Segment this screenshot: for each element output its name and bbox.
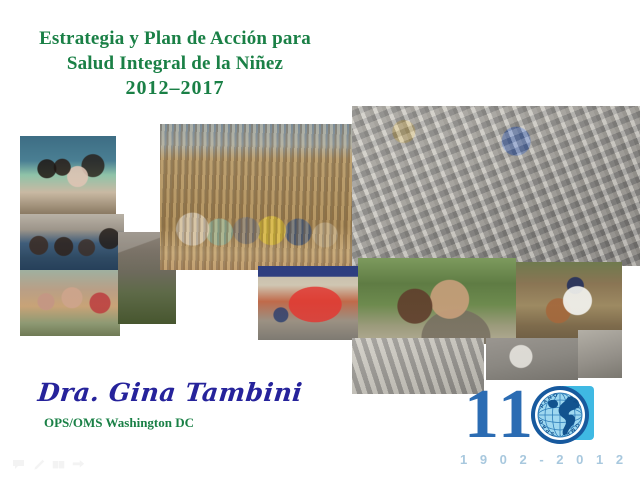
presenter-block: Dra. Gina Tambini OPS/OMS Washington DC	[38, 378, 302, 431]
photo-aerial-city-image	[352, 106, 640, 266]
photo-right-sliver-image	[578, 330, 622, 378]
photo-youth-group	[20, 214, 124, 270]
photo-youth-group-image	[20, 214, 124, 270]
photo-couple-image	[358, 258, 516, 344]
comment-icon	[12, 459, 25, 470]
photo-city-bus	[258, 266, 362, 340]
photo-aerial-city	[352, 106, 640, 266]
photo-right-sliver	[578, 330, 622, 378]
photo-children-bed-image	[20, 136, 116, 214]
title-line-1: Estrategia y Plan de Acción para	[0, 26, 350, 51]
paho-110-anniversary-logo: 1 1	[458, 382, 626, 474]
logo-digit-first: 1	[464, 380, 499, 450]
logo-mark: 1 1	[458, 382, 626, 450]
presentation-slide: Estrategia y Plan de Acción para Salud I…	[0, 0, 640, 480]
photo-street-scene-image	[486, 338, 578, 380]
photo-city-bus-image	[258, 266, 362, 340]
photo-bamboo-fence	[160, 124, 352, 270]
photo-couple	[358, 258, 516, 344]
photo-street-scene	[486, 338, 578, 380]
title-line-2: Salud Integral de la Niñez	[0, 51, 350, 76]
pencil-icon	[32, 459, 45, 470]
photo-women-girls	[20, 270, 120, 336]
presenter-name: Dra. Gina Tambini	[36, 378, 303, 407]
slide-title: Estrategia y Plan de Acción para Salud I…	[0, 26, 350, 101]
title-line-3: 2012–2017	[0, 76, 350, 101]
photo-bamboo-fence-image	[160, 124, 352, 270]
logo-years: 1 9 0 2 - 2 0 1 2	[460, 452, 624, 467]
book-icon	[52, 459, 65, 470]
photo-women-girls-image	[20, 270, 120, 336]
arrow-right-icon	[72, 459, 85, 470]
photo-children-bed	[20, 136, 116, 214]
watermark-icon-strip	[12, 459, 85, 470]
paho-globe-icon: PAHO · OPS OMS · SPAO	[528, 384, 596, 448]
presenter-affiliation: OPS/OMS Washington DC	[44, 414, 302, 431]
